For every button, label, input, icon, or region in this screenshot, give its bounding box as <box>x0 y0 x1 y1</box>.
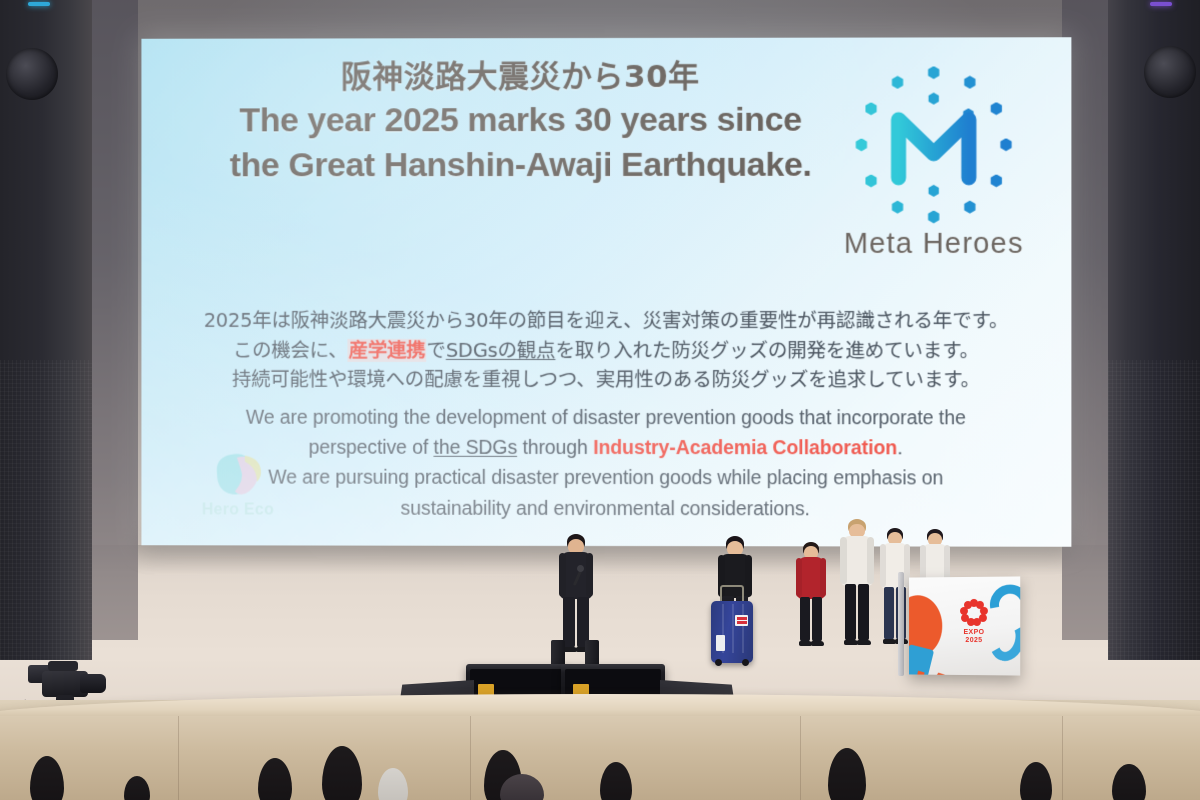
expo-ring-dot <box>973 618 981 626</box>
text-line-jp2: この機会に、産学連携でSDGsの観点を取り入れた防災グッズの開発を進めています。 <box>155 335 1057 365</box>
expo-logo-line-1: EXPO <box>954 629 994 637</box>
camera-lens <box>80 674 106 693</box>
panelist-white-shirt-dark-pants <box>878 528 912 644</box>
shoe <box>883 639 896 644</box>
headline-english: The year 2025 marks 30 years since the G… <box>171 98 870 188</box>
podium-post <box>898 572 904 676</box>
arm <box>796 558 802 596</box>
expo-ring-dot <box>964 601 972 609</box>
headline-japanese: 阪神淡路大震災から30年 <box>171 60 870 96</box>
text-segment: SDGsの観点 <box>446 339 556 362</box>
text-line-en1: We are promoting the development of disa… <box>155 403 1057 434</box>
headline-english-line-2: the Great Hanshin-Awaji Earthquake. <box>171 143 870 188</box>
headline-english-line-1: The year 2025 marks 30 years since <box>171 98 870 144</box>
speaker-cone-right <box>1144 46 1196 98</box>
text-segment: 持続可能性や環境への配慮を重視しつつ、実用性のある防災グッズを追求しています。 <box>232 368 980 391</box>
hero-eco-watermark-icon <box>211 450 265 500</box>
leg <box>800 597 810 642</box>
suitcase-wheel <box>742 659 749 666</box>
text-segment: sustainability and environmental conside… <box>401 497 810 520</box>
text-line-jp1: 2025年は阪神淡路大震災から30年の節目を迎え、災害対策の重要性が再認識される… <box>155 306 1057 336</box>
suitcase-tag <box>716 635 725 651</box>
wall-shadow-band <box>0 545 1200 575</box>
projection-screen: 阪神淡路大震災から30年 The year 2025 marks 30 year… <box>141 37 1071 547</box>
meta-heroes-logo: Meta Heroes <box>818 55 1049 261</box>
body-japanese: 2025年は阪神淡路大震災から30年の節目を迎え、災害対策の重要性が再認識される… <box>155 306 1057 395</box>
text-segment: We are promoting the development of disa… <box>246 407 966 430</box>
speaker-led-left <box>28 2 50 6</box>
suitcase-handle <box>720 585 744 601</box>
arm <box>559 553 566 596</box>
arm <box>820 558 826 596</box>
microphone-head <box>577 565 584 572</box>
expo-ring-icon <box>960 599 988 627</box>
arm <box>840 537 847 583</box>
text-segment: perspective of <box>309 437 434 459</box>
speaker-stack-left <box>0 0 92 660</box>
meta-heroes-logo-icon <box>844 55 1023 234</box>
text-segment: We are pursuing practical disaster preve… <box>268 467 943 490</box>
speaker-grille-right <box>1108 360 1200 660</box>
expo-logo-line-2: 2025 <box>954 637 994 645</box>
arm <box>880 544 886 587</box>
hero-eco-watermark-text: Hero Eco <box>183 501 292 519</box>
arm <box>745 555 752 596</box>
suitcase-wheel <box>715 659 722 666</box>
expo-logo: EXPO 2025 <box>954 599 994 645</box>
shoe <box>857 640 871 645</box>
panelist-white-shirt-blond <box>838 519 876 645</box>
panelist-red-sweater <box>794 542 828 646</box>
arm <box>867 537 874 583</box>
wall-panel-left <box>92 0 138 640</box>
shoe <box>811 641 824 646</box>
text-segment: で <box>427 339 446 362</box>
text-segment: 産学連携 <box>348 339 427 362</box>
text-segment: through <box>517 437 593 459</box>
leg <box>812 597 822 642</box>
suitcase-ridge <box>732 604 734 653</box>
expo-2025-podium: EXPO 2025 <box>909 576 1020 675</box>
leg <box>884 587 894 640</box>
shoe <box>799 641 812 646</box>
camera-top-handle <box>48 661 78 671</box>
stage-scene: 阪神淡路大震災から30年 The year 2025 marks 30 year… <box>0 0 1200 800</box>
slide-headline-block: 阪神淡路大震災から30年 The year 2025 marks 30 year… <box>171 48 870 189</box>
leg <box>858 584 869 641</box>
shoe <box>844 640 858 645</box>
speaker-cone-left <box>6 48 58 100</box>
text-segment: を取り入れた防災グッズの開発を進めています。 <box>555 339 979 362</box>
suitcase-ridge <box>742 604 744 653</box>
speaker-led-right <box>1150 2 1172 6</box>
navy-rolling-suitcase <box>711 601 753 663</box>
text-segment: . <box>897 437 902 459</box>
logo-letter-m <box>844 55 1023 234</box>
leg <box>845 584 856 641</box>
text-segment: Industry-Academia Collaboration <box>593 437 897 459</box>
slide: 阪神淡路大震災から30年 The year 2025 marks 30 year… <box>141 37 1071 547</box>
text-segment: この機会に、 <box>233 339 348 362</box>
expo-logo-text: EXPO 2025 <box>954 629 994 645</box>
text-segment: 2025年は阪神淡路大震災から30年の節目を迎え、災害対策の重要性が再認識される… <box>204 309 1009 332</box>
text-segment: the SDGs <box>434 437 518 459</box>
speaker-stack-right <box>1108 0 1200 660</box>
hero-eco-watermark: Hero Eco <box>183 450 292 520</box>
speaker-grille-left <box>0 360 92 660</box>
suitcase-label <box>735 615 748 626</box>
arm <box>586 553 593 596</box>
presenter-with-microphone <box>556 534 596 652</box>
text-line-jp3: 持続可能性や環境への配慮を重視しつつ、実用性のある防災グッズを追求しています。 <box>155 365 1057 395</box>
